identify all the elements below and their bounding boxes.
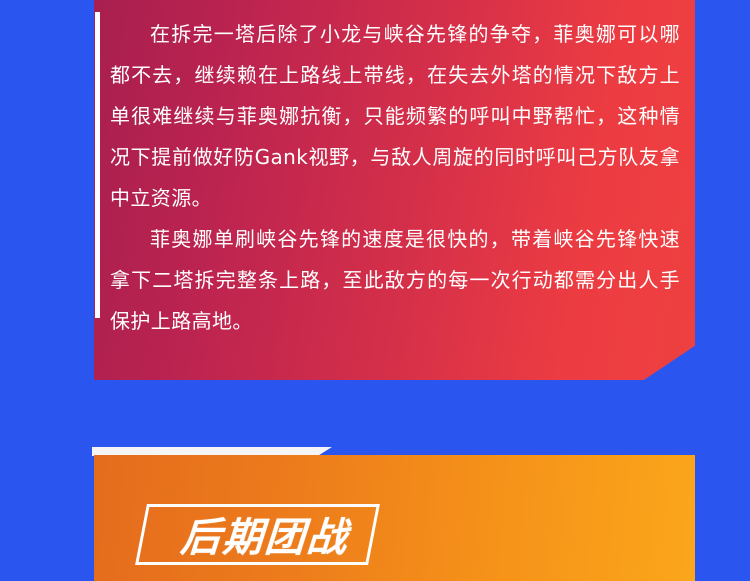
red-panel-accent-bar [95,12,100,318]
strategy-paragraph-2: 菲奥娜单刷峡谷先锋的速度是很快的，带着峡谷先锋快速拿下二塔拆完整条上路，至此敌方… [110,219,680,342]
strategy-text-block: 在拆完一塔后除了小龙与峡谷先锋的争夺，菲奥娜可以哪都不去，继续赖在上路线上带线，… [110,14,680,342]
section-heading-label: 后期团战 [148,505,382,563]
strategy-paragraph-1: 在拆完一塔后除了小龙与峡谷先锋的争夺，菲奥娜可以哪都不去，继续赖在上路线上带线，… [110,14,680,219]
page-root: 在拆完一塔后除了小龙与峡谷先锋的争夺，菲奥娜可以哪都不去，继续赖在上路线上带线，… [0,0,750,581]
